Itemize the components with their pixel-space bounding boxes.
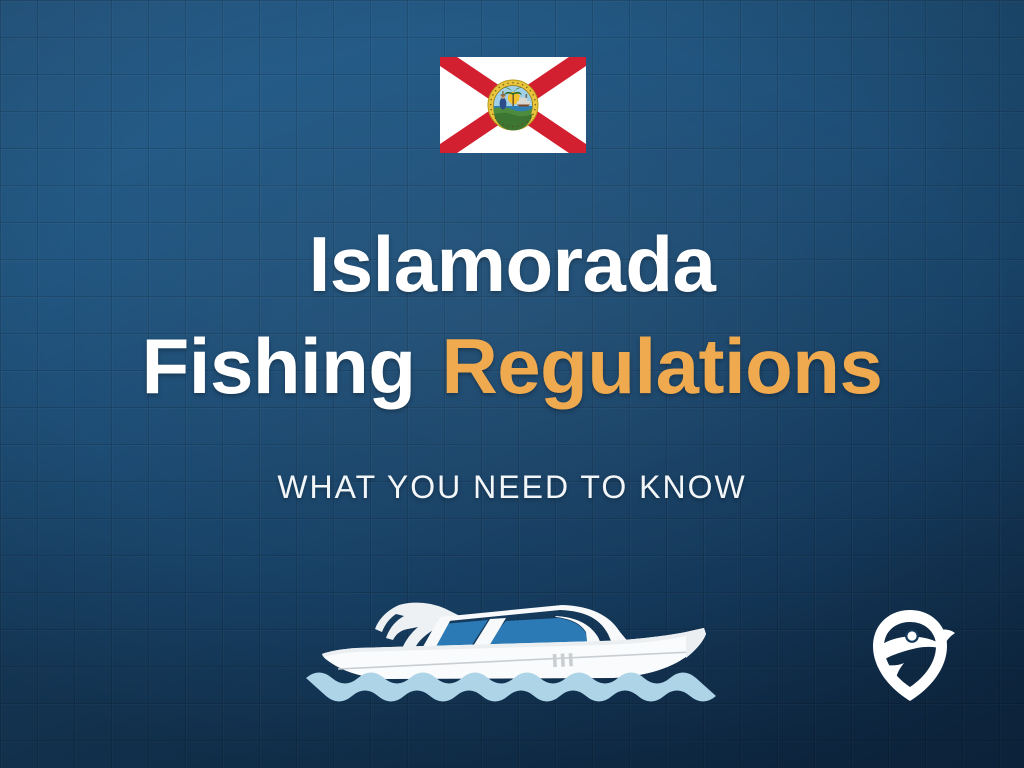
page-title-word-regulations: Regulations [441,322,882,410]
page-title-line-2: FishingRegulations [0,327,1024,405]
florida-state-seal [488,80,538,130]
fish-logo-icon [861,606,959,704]
page-title-line-1: Islamorada [0,225,1024,303]
fish-logo-svg [861,606,959,704]
florida-state-flag-icon [440,57,586,153]
page-title-word-fishing: Fishing [142,322,416,410]
florida-flag-svg [440,57,586,153]
hero-banner: Islamorada FishingRegulations WHAT YOU N… [0,0,1024,768]
boat-vent-slats [553,653,573,667]
motor-yacht-svg [300,592,730,707]
headline-block: Islamorada FishingRegulations [0,225,1024,405]
motor-yacht-icon [300,592,730,707]
page-subtitle: WHAT YOU NEED TO KNOW [0,469,1024,506]
